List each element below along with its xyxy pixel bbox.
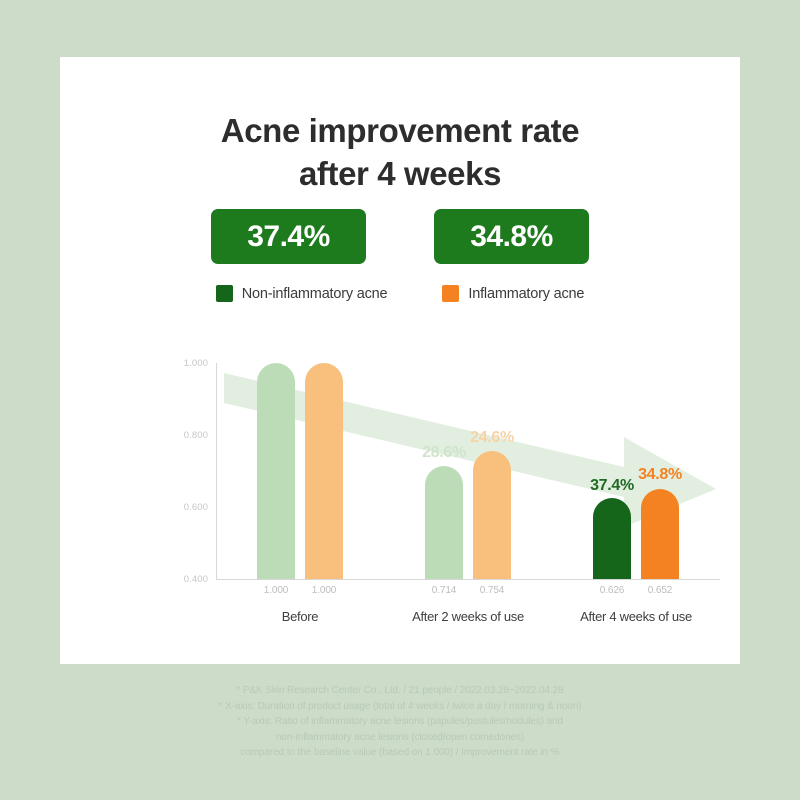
bar-col-2w-green: 28.6% [425, 363, 463, 579]
bar-chart: 1.000 0.800 0.600 0.400 28.6% [160, 357, 720, 627]
bar-col-before-green [257, 363, 295, 579]
footnote-line-4: non-inflammatory acne lesions (closed/op… [0, 730, 800, 746]
value-group-4w: 0.626 0.652 [552, 585, 720, 603]
value-before-green: 1.000 [257, 585, 295, 603]
legend-swatch-green [216, 285, 233, 302]
bar-annot-4w-inflammatory: 34.8% [615, 466, 705, 484]
value-before-orange: 1.000 [305, 585, 343, 603]
chart-legend: Non-inflammatory acne Inflammatory acne [60, 285, 740, 302]
legend-swatch-orange [442, 285, 459, 302]
bar-4w-non-inflammatory [593, 498, 631, 579]
category-after-4-weeks: After 4 weeks of use [552, 609, 720, 624]
bar-before-non-inflammatory [257, 363, 295, 579]
bar-value-labels: 1.000 1.000 0.714 0.754 0.626 0.652 [216, 585, 720, 603]
bar-4w-inflammatory [641, 489, 679, 579]
category-after-2-weeks: After 2 weeks of use [384, 609, 552, 624]
x-axis-line [216, 579, 720, 580]
page-title-line-2: after 4 weeks [60, 152, 740, 195]
badge-non-inflammatory: 37.4% [211, 209, 366, 264]
value-group-2w: 0.714 0.754 [384, 585, 552, 603]
footnote-line-1: * P&K Skin Research Center Co., Ltd. / 2… [0, 683, 800, 699]
y-tick-0600: 0.600 [160, 502, 208, 513]
category-before: Before [216, 609, 384, 624]
page-title: Acne improvement rate after 4 weeks [60, 109, 740, 195]
footnote-line-5: compared to the baseline value (based on… [0, 745, 800, 761]
footnote-line-3: * Y-axis: Ratio of inflammatory acne les… [0, 714, 800, 730]
bar-2w-non-inflammatory [425, 466, 463, 579]
bar-2w-inflammatory [473, 451, 511, 579]
value-4w-orange: 0.652 [641, 585, 679, 603]
bar-group-before [216, 363, 384, 579]
bar-group-after-2-weeks: 28.6% 24.6% [384, 363, 552, 579]
value-2w-green: 0.714 [425, 585, 463, 603]
value-2w-orange: 0.754 [473, 585, 511, 603]
y-tick-0400: 0.400 [160, 574, 208, 585]
value-group-before: 1.000 1.000 [216, 585, 384, 603]
legend-item-non-inflammatory: Non-inflammatory acne [216, 285, 388, 302]
bar-col-before-orange [305, 363, 343, 579]
bar-groups: 28.6% 24.6% 37.4% 34.8% [216, 363, 720, 579]
value-4w-green: 0.626 [593, 585, 631, 603]
bar-annot-2w-inflammatory: 24.6% [447, 429, 537, 447]
badge-inflammatory: 34.8% [434, 209, 589, 264]
footnotes: * P&K Skin Research Center Co., Ltd. / 2… [0, 683, 800, 761]
bar-col-2w-orange: 24.6% [473, 363, 511, 579]
legend-label-non-inflammatory: Non-inflammatory acne [242, 286, 388, 302]
legend-label-inflammatory: Inflammatory acne [468, 286, 584, 302]
infographic-card: Acne improvement rate after 4 weeks 37.4… [60, 57, 740, 664]
x-axis-categories: Before After 2 weeks of use After 4 week… [216, 609, 720, 624]
y-tick-0800: 0.800 [160, 430, 208, 441]
summary-badges: 37.4% 34.8% [60, 209, 740, 264]
bar-col-4w-orange: 34.8% [641, 363, 679, 579]
y-tick-1000: 1.000 [160, 358, 208, 369]
bar-group-after-4-weeks: 37.4% 34.8% [552, 363, 720, 579]
footnote-line-2: * X-axis: Duration of product usage (tot… [0, 699, 800, 715]
page-title-line-1: Acne improvement rate [60, 109, 740, 152]
legend-item-inflammatory: Inflammatory acne [442, 285, 584, 302]
bar-before-inflammatory [305, 363, 343, 579]
